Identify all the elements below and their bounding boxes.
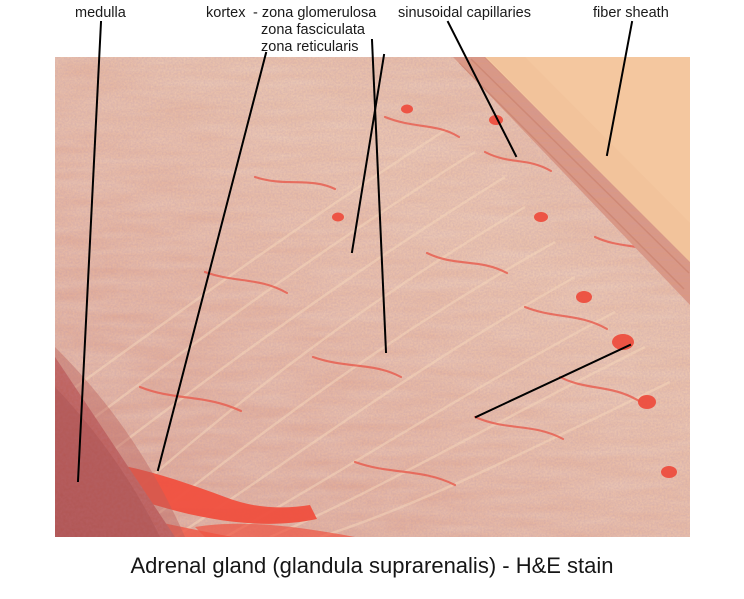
label-medulla: medulla <box>75 5 126 22</box>
label-fiber-sheath: fiber sheath <box>593 5 669 22</box>
figure-caption: Adrenal gland (glandula suprarenalis) - … <box>0 551 744 581</box>
adrenal-gland-he-micrograph <box>55 57 690 537</box>
label-kortex: kortex <box>206 5 246 22</box>
label-zona-fasciculata: zona fasciculata <box>261 22 365 39</box>
label-sinusoidal-capillaries: sinusoidal capillaries <box>398 5 531 22</box>
label-zona-reticularis: zona reticularis <box>261 39 359 56</box>
label-zona-glomerulosa: - zona glomerulosa <box>253 5 376 22</box>
figure-root: medulla kortex - zona glomerulosa zona f… <box>0 0 744 599</box>
